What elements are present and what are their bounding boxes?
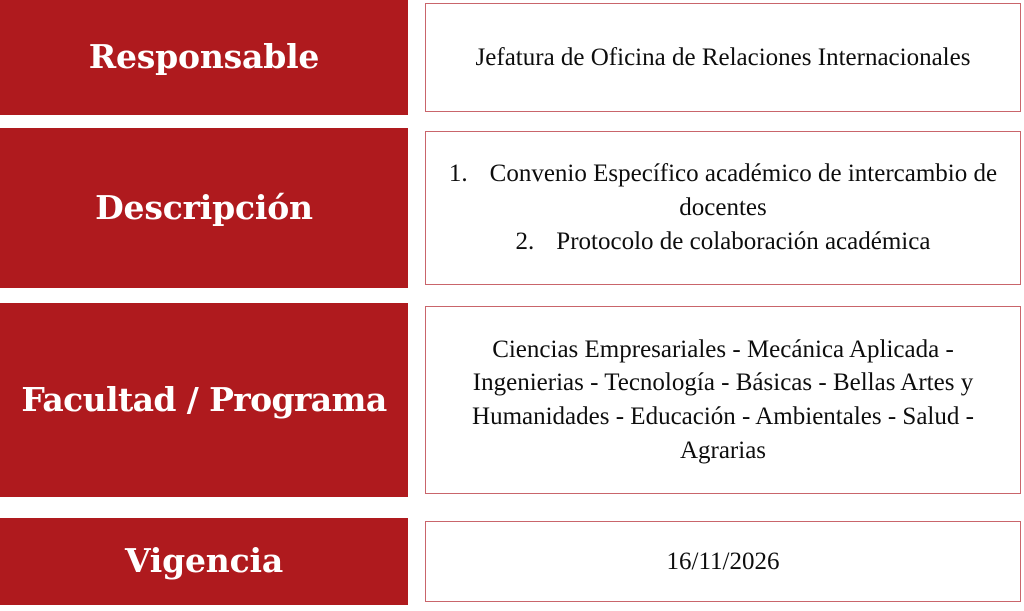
list-item-label: Convenio Específico académico de interca…	[490, 160, 997, 221]
agreement-details-table: Responsable Jefatura de Oficina de Relac…	[0, 0, 1024, 611]
row-label-vigencia: Vigencia	[125, 543, 283, 579]
row-label-facultad-programa: Facultad / Programa	[21, 382, 386, 418]
list-item-label: Protocolo de colaboración académica	[556, 228, 930, 255]
row-value-cell-responsable: Jefatura de Oficina de Relaciones Intern…	[425, 3, 1021, 112]
row-label-descripcion: Descripción	[95, 190, 313, 226]
list-item: 1.Convenio Específico académico de inter…	[440, 157, 1006, 225]
row-value-vigencia: 16/11/2026	[440, 545, 1006, 579]
row-label-cell-descripcion: Descripción	[0, 128, 408, 288]
list-item-marker: 2.	[516, 225, 535, 259]
row-label-cell-facultad-programa: Facultad / Programa	[0, 303, 408, 497]
row-label-responsable: Responsable	[89, 39, 319, 75]
row-value-cell-descripcion: 1.Convenio Específico académico de inter…	[425, 131, 1021, 285]
list-item: 2.Protocolo de colaboración académica	[440, 225, 1006, 259]
table-row-facultad-programa: Facultad / Programa Ciencias Empresarial…	[0, 303, 1024, 497]
row-value-cell-vigencia: 16/11/2026	[425, 521, 1021, 602]
row-label-cell-vigencia: Vigencia	[0, 518, 408, 605]
table-row-descripcion: Descripción 1.Convenio Específico académ…	[0, 128, 1024, 288]
table-row-responsable: Responsable Jefatura de Oficina de Relac…	[0, 0, 1024, 115]
table-row-vigencia: Vigencia 16/11/2026	[0, 518, 1024, 605]
row-value-responsable: Jefatura de Oficina de Relaciones Intern…	[440, 41, 1006, 75]
row-value-facultad-programa: Ciencias Empresariales - Mecánica Aplica…	[440, 333, 1006, 468]
list-item-marker: 1.	[449, 157, 468, 191]
row-label-cell-responsable: Responsable	[0, 0, 408, 115]
descripcion-list: 1.Convenio Específico académico de inter…	[440, 157, 1006, 258]
row-value-cell-facultad-programa: Ciencias Empresariales - Mecánica Aplica…	[425, 306, 1021, 494]
